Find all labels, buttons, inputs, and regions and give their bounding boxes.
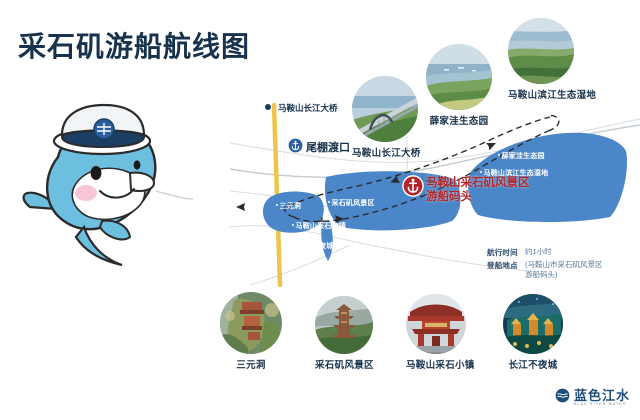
anchor-icon [288, 138, 303, 156]
label-dot-icon [276, 204, 278, 206]
info-row-duration: 航行时间 约1小时 [487, 247, 603, 258]
water-label-1: 采石矶风景区 [328, 198, 375, 208]
photo-caption: 薛家洼生态园 [426, 113, 492, 127]
label-dot-icon [498, 154, 500, 156]
water-label-0: 三元洞 [276, 201, 301, 211]
photo-card-bridge[interactable]: 马鞍山长江大桥 [352, 76, 421, 159]
photo-card-night-city[interactable]: 长江不夜城 [503, 294, 563, 371]
duration-key: 航行时间 [487, 247, 525, 258]
water-label-3: 长江不夜城 [294, 241, 334, 251]
photo-caption: 长江不夜城 [503, 357, 563, 371]
water-label-4: 薛家洼生态园 [498, 151, 545, 161]
boarding-value-line1: (马鞍山市采石矶风景区 [525, 260, 603, 269]
photo-caption: 马鞍山滨江生态湿地 [508, 87, 596, 101]
page-title: 采石矶游船航线图 [18, 32, 250, 63]
river-wetland-photo [508, 18, 574, 84]
water-label-text: 马鞍山采石古镇 [296, 223, 346, 230]
label-dot-icon [328, 201, 330, 203]
brand-logo[interactable]: 蓝色江水 BLUE RIVER WATER [555, 388, 630, 408]
photo-card-binjiang-wetland[interactable]: 马鞍山滨江生态湿地 [508, 18, 596, 101]
photo-card-caishi-town[interactable]: 马鞍山采石小镇 [406, 294, 475, 371]
brand-logo-text: 蓝色江水 BLUE RIVER WATER [574, 389, 630, 407]
map-label-ferry[interactable]: 尾棚渡口 [288, 138, 350, 156]
photo-card-caishiji[interactable]: 采石矶风景区 [315, 296, 374, 371]
water-label-text: 采石矶风景区 [332, 200, 375, 207]
cave-photo [220, 292, 282, 354]
brand-subtitle: BLUE RIVER WATER [574, 403, 630, 407]
anchor-marker-icon [402, 175, 424, 202]
bridge-photo [352, 76, 418, 142]
poster-canvas: 采石矶游船航线图 [0, 0, 640, 420]
water-label-text: 长江不夜城 [298, 243, 334, 250]
info-row-boarding: 登船地点 (马鞍山市采石矶风景区 游船码头) [487, 260, 603, 280]
dolphin-captain-mascot [18, 95, 193, 270]
boarding-dock-marker[interactable]: 马鞍山采石矶风景区 游船码头 [402, 175, 530, 205]
photo-caption: 马鞍山采石小镇 [406, 357, 475, 371]
map-label-bridge: 马鞍山长江大桥 [278, 102, 338, 114]
photo-card-sanyuandong[interactable]: 三元洞 [220, 292, 282, 371]
boarding-dock-marker-label: 马鞍山采石矶风景区 游船码头 [426, 175, 530, 205]
photo-caption: 三元洞 [220, 357, 282, 371]
water-label-text: 三元洞 [280, 203, 302, 210]
label-dot-icon [292, 224, 294, 226]
photo-caption: 马鞍山长江大桥 [352, 145, 421, 159]
marker-line-1: 马鞍山采石矶风景区 [426, 177, 530, 189]
water-label-text: 马鞍山滨江生态湿地 [484, 170, 549, 177]
nightcity-photo [503, 294, 563, 354]
label-dot-icon [294, 244, 296, 246]
water-label-5: 马鞍山滨江生态湿地 [480, 168, 548, 178]
water-label-text: 薛家洼生态园 [502, 153, 545, 160]
water-label-2: 马鞍山采石古镇 [292, 221, 346, 231]
blue-river-logo-icon [555, 388, 570, 408]
boarding-value: (马鞍山市采石矶风景区 游船码头) [525, 260, 603, 280]
bridge-point-dot [265, 104, 271, 110]
trip-info-block: 航行时间 约1小时 登船地点 (马鞍山市采石矶风景区 游船码头) [487, 247, 603, 282]
wetland-photo [426, 44, 492, 110]
photo-caption: 采石矶风景区 [315, 357, 374, 371]
bridge-label-text: 马鞍山长江大桥 [278, 102, 338, 114]
gate-photo [406, 294, 466, 354]
duration-value: 约1小时 [525, 247, 552, 257]
ferry-label-text: 尾棚渡口 [306, 139, 350, 155]
marker-line-2: 游船码头 [426, 191, 472, 203]
pagoda-photo [315, 296, 373, 354]
boarding-key: 登船地点 [487, 260, 525, 271]
photo-card-xuejiawa[interactable]: 薛家洼生态园 [426, 44, 492, 127]
boarding-value-line2: 游船码头) [525, 270, 558, 279]
label-dot-icon [480, 171, 482, 173]
brand-name: 蓝色江水 [574, 389, 630, 402]
